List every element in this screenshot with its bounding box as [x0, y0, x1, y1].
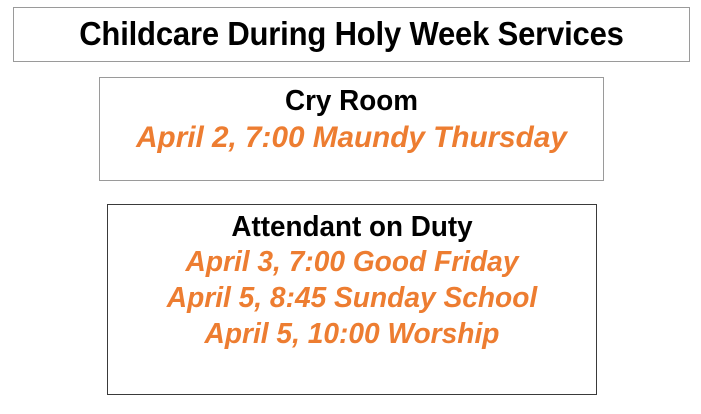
- attendant-schedule-line-1: April 3, 7:00 Good Friday: [115, 245, 588, 280]
- slide-canvas: Childcare During Holy Week Services Cry …: [0, 0, 701, 414]
- attendant-schedule-line-3: April 5, 10:00 Worship: [115, 317, 588, 352]
- cry-room-heading: Cry Room: [110, 84, 593, 118]
- attendant-on-duty-card: Attendant on Duty April 3, 7:00 Good Fri…: [107, 204, 597, 395]
- attendant-schedule-line-2: April 5, 8:45 Sunday School: [115, 281, 588, 316]
- title-box: Childcare During Holy Week Services: [13, 7, 690, 62]
- cry-room-card: Cry Room April 2, 7:00 Maundy Thursday: [99, 77, 604, 181]
- cry-room-schedule-line-1: April 2, 7:00 Maundy Thursday: [103, 120, 601, 156]
- attendant-on-duty-heading: Attendant on Duty: [118, 210, 586, 244]
- page-title: Childcare During Holy Week Services: [34, 8, 669, 60]
